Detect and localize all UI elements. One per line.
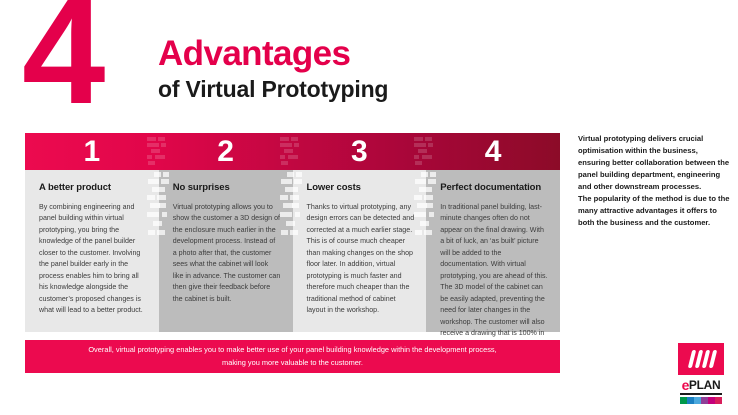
logo-letters-plan: PLAN <box>689 379 720 391</box>
title-block: Advantages of Virtual Prototyping <box>158 36 388 103</box>
summary-text: Overall, virtual prototyping enables you… <box>78 344 508 370</box>
advantage-column-3: Lower costs Thanks to virtual prototypin… <box>293 170 427 332</box>
column-number-3: 3 <box>293 133 427 170</box>
column-number-1: 1 <box>25 133 159 170</box>
sidebar-paragraph-1: Virtual prototyping delivers crucial opt… <box>578 133 730 193</box>
page-title: Advantages <box>158 36 388 73</box>
advantage-body-2: Virtual prototyping allows you to show t… <box>173 202 281 305</box>
logo-wordmark: ePLAN <box>678 377 724 392</box>
advantage-column-1: A better product By combining engineerin… <box>25 170 159 332</box>
eplan-logo: ePLAN <box>678 343 724 405</box>
logo-color-swatches <box>680 397 722 404</box>
sidebar-summary: Virtual prototyping delivers crucial opt… <box>578 133 730 229</box>
advantage-body-4: In traditional panel building, last-minu… <box>440 202 548 351</box>
advantage-body-3: Thanks to virtual prototyping, any desig… <box>307 202 415 317</box>
column-number-4: 4 <box>426 133 560 170</box>
logo-slashes-icon <box>690 350 714 368</box>
column-number-2: 2 <box>159 133 293 170</box>
advantage-column-4: Perfect documentation In traditional pan… <box>426 170 560 332</box>
advantage-title-3: Lower costs <box>307 182 415 193</box>
logo-red-block <box>678 343 724 375</box>
page-header: 4 Advantages of Virtual Prototyping <box>0 0 738 128</box>
summary-bar: Overall, virtual prototyping enables you… <box>25 340 560 373</box>
advantage-title-2: No surprises <box>173 182 281 193</box>
advantage-title-1: A better product <box>39 182 147 193</box>
advantage-column-2: No surprises Virtual prototyping allows … <box>159 170 293 332</box>
advantage-columns: A better product By combining engineerin… <box>25 170 560 332</box>
advantages-panel: 1 2 3 4 A better product By combining en… <box>25 133 560 332</box>
advantage-body-1: By combining engineering and panel build… <box>39 202 147 317</box>
sidebar-paragraph-2: The popularity of the method is due to t… <box>578 193 730 229</box>
number-header-bar: 1 2 3 4 <box>25 133 560 170</box>
logo-underline <box>680 393 722 395</box>
headline-big-number: 4 <box>22 0 99 126</box>
page-subtitle: of Virtual Prototyping <box>158 76 388 104</box>
advantage-title-4: Perfect documentation <box>440 182 548 193</box>
logo-letter-e: e <box>682 378 689 392</box>
